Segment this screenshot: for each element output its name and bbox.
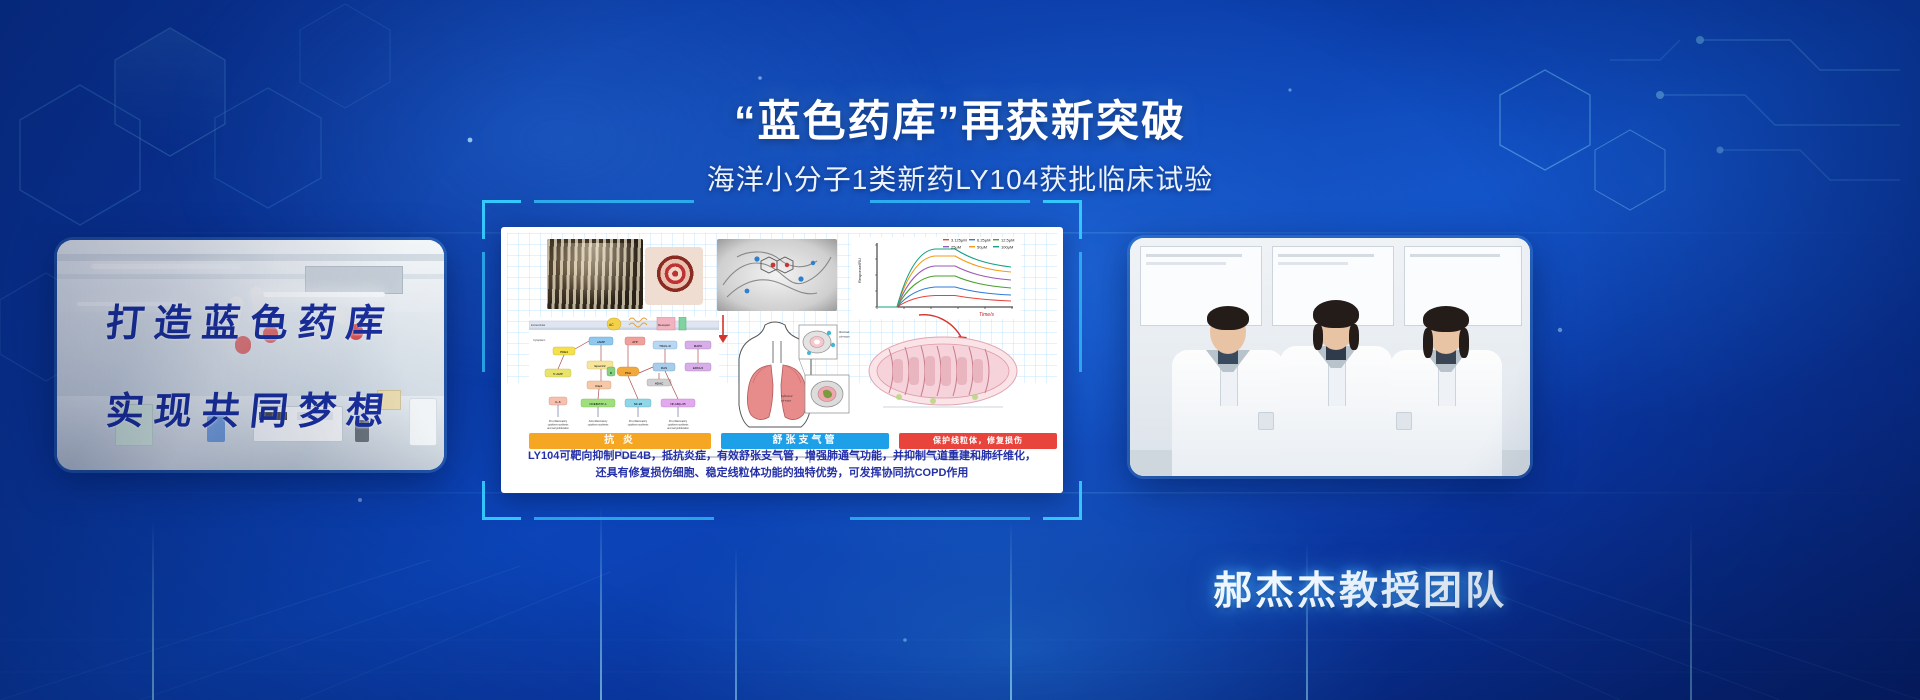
vignette-overlay xyxy=(0,0,1920,700)
banner-stage: “蓝色药库”再获新突破 海洋小分子1类新药LY104获批临床试验 打造蓝色药库 … xyxy=(0,0,1920,700)
